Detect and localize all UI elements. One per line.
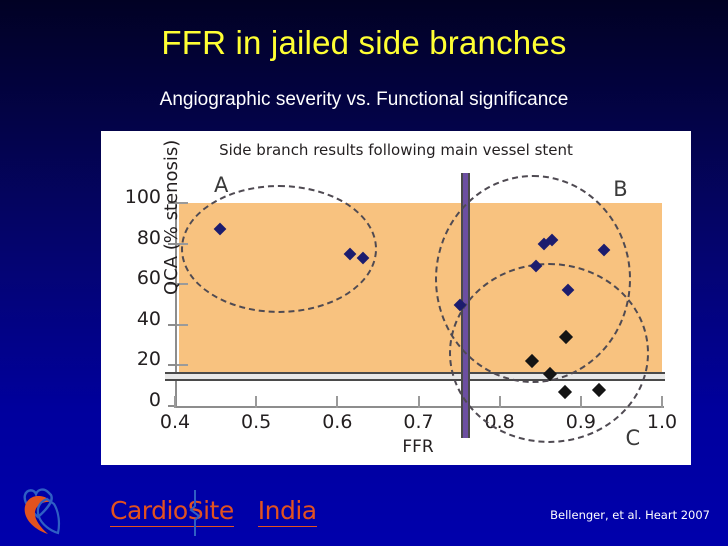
x-tick-0.6: [336, 396, 338, 408]
x-tick-label-0.4: 0.4: [160, 411, 190, 433]
y-tick-label-60: 60: [137, 269, 161, 288]
x-tick-0.7: [418, 396, 420, 408]
logo-word-cardiosite: CardioSite: [110, 496, 234, 527]
group-label-c: C: [625, 426, 640, 450]
x-tick-0.5: [255, 396, 257, 408]
cardiosite-logo: CardioSite India: [14, 486, 344, 538]
x-tick-0.4: [174, 396, 176, 408]
plot-area: 020406080100 0.40.50.60.70.80.91.0 ABC F…: [175, 203, 662, 406]
y-axis-title: QCA (% stenosis): [161, 140, 182, 295]
y-tick-label-0: 0: [149, 391, 161, 410]
ecg-waveform-icon: [180, 490, 210, 536]
y-tick-label-20: 20: [137, 350, 161, 369]
y-tick-inner-20: [177, 364, 188, 366]
y-tick-label-80: 80: [137, 229, 161, 248]
x-tick-label-0.6: 0.6: [322, 411, 352, 433]
heart-logo-icon: [14, 486, 106, 538]
y-tick-label-100: 100: [125, 188, 161, 207]
slide-title: FFR in jailed side branches: [0, 24, 728, 62]
group-label-a: A: [214, 173, 228, 197]
y-tick-inner-40: [177, 324, 188, 326]
group-ellipse-c: [449, 263, 649, 443]
x-tick-label-1.0: 1.0: [647, 411, 677, 433]
logo-word-india: India: [258, 496, 317, 527]
y-tick-label-40: 40: [137, 310, 161, 329]
figure-title: Side branch results following main vesse…: [101, 141, 691, 159]
logo-wordmark: CardioSite India: [110, 496, 317, 527]
x-tick-label-0.7: 0.7: [403, 411, 433, 433]
x-tick-label-0.5: 0.5: [241, 411, 271, 433]
figure-panel: Side branch results following main vesse…: [101, 131, 691, 465]
group-label-b: B: [613, 177, 627, 201]
x-tick-1.0: [661, 396, 663, 408]
x-axis-title: FFR: [402, 437, 433, 457]
citation: Bellenger, et al. Heart 2007: [550, 508, 710, 522]
y-tick-40: 40: [168, 324, 177, 326]
slide-subtitle: Angiographic severity vs. Functional sig…: [0, 89, 728, 111]
y-tick-20: 20: [168, 364, 177, 366]
